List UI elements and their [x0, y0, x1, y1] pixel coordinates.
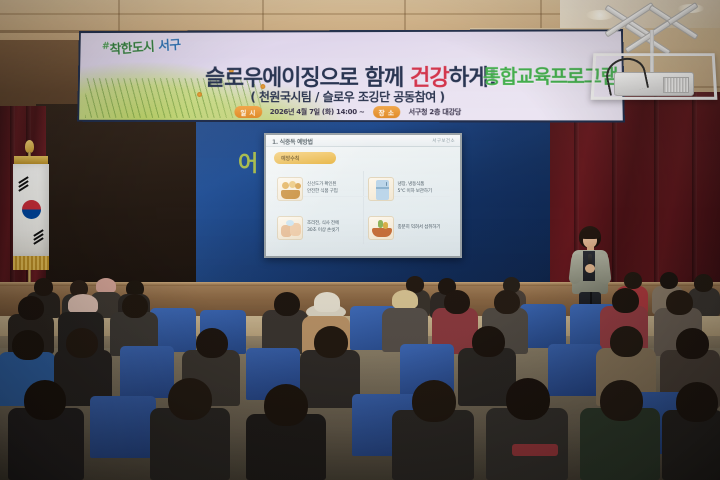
scissor-lift-icon	[606, 0, 702, 54]
audience-head	[676, 328, 709, 359]
audience-head	[274, 292, 300, 316]
logo-city: 서구	[158, 38, 181, 54]
logo-text: 착한도시	[109, 40, 154, 58]
audience-head	[610, 326, 643, 357]
audience-head	[494, 290, 520, 314]
date-text: 2026년 4월 7일 (화) 14:00 ~	[270, 107, 365, 117]
audience-scarf	[512, 444, 558, 456]
audience-head	[472, 326, 505, 357]
chair	[548, 344, 602, 396]
audience-head	[168, 378, 212, 420]
flag-cloth	[13, 164, 49, 258]
audience-head	[264, 384, 308, 426]
event-banner: #착한도시 서구 슬로우에이징으로 함께 건강하게! 통합교육프로그램 ( 천원…	[77, 29, 625, 122]
audience-hat	[392, 290, 418, 309]
audience-head	[694, 274, 713, 292]
audience-head	[18, 296, 44, 320]
auditorium-scene: 어 #착한도시 서구 슬로우에이징으로 함께 건강하게! 통합교육프로그램 ( …	[0, 0, 720, 480]
chair	[120, 346, 174, 398]
slide-surface: 1. 식중독 예방법 서구보건소 예방수칙 신선도가 확인된 안전한 식품 구입	[266, 135, 460, 256]
chair	[90, 396, 156, 458]
ceiling-projector-assembly	[588, 0, 720, 102]
audience-head	[12, 330, 44, 360]
banner-subtitle: ( 천원국시팀 / 슬로우 조깅단 공동참여 )	[79, 88, 622, 105]
audience-head	[66, 328, 98, 358]
screen-glare	[266, 135, 460, 256]
audience-head	[122, 294, 148, 318]
audience-head	[24, 380, 66, 420]
audience-head	[600, 380, 643, 421]
banner-meta-row: 일 시 2026년 4월 7일 (화) 14:00 ~ 장 소 서구청 2층 대…	[79, 106, 623, 119]
audience-head	[660, 272, 678, 289]
audience-head	[412, 380, 456, 422]
audience-head	[676, 382, 718, 422]
audience-hat	[68, 294, 98, 314]
place-text: 서구청 2층 대강당	[409, 107, 462, 117]
city-logo: #착한도시 서구	[101, 34, 181, 58]
taeguk-icon	[22, 200, 41, 219]
projection-screen: 1. 식중독 예방법 서구보건소 예방수칙 신선도가 확인된 안전한 식품 구입	[264, 133, 462, 258]
audience-group	[0, 268, 720, 480]
projector-vent	[663, 77, 689, 93]
flag-top-band	[14, 156, 48, 164]
audience-hat	[314, 292, 340, 312]
date-pill: 일 시	[234, 106, 262, 118]
audience-head	[314, 326, 348, 358]
audience-head	[506, 378, 550, 420]
audience-hat	[96, 278, 116, 293]
audience-head	[196, 328, 228, 358]
presenter-fringe	[580, 230, 600, 239]
audience-head	[34, 278, 53, 296]
audience-head	[624, 272, 642, 289]
audience-torso	[300, 350, 360, 408]
audience-head	[666, 290, 693, 315]
place-pill: 장 소	[373, 106, 401, 118]
audience-head	[612, 288, 639, 313]
audience-head	[444, 290, 470, 314]
backdrop-partial-text: 어	[238, 146, 259, 178]
